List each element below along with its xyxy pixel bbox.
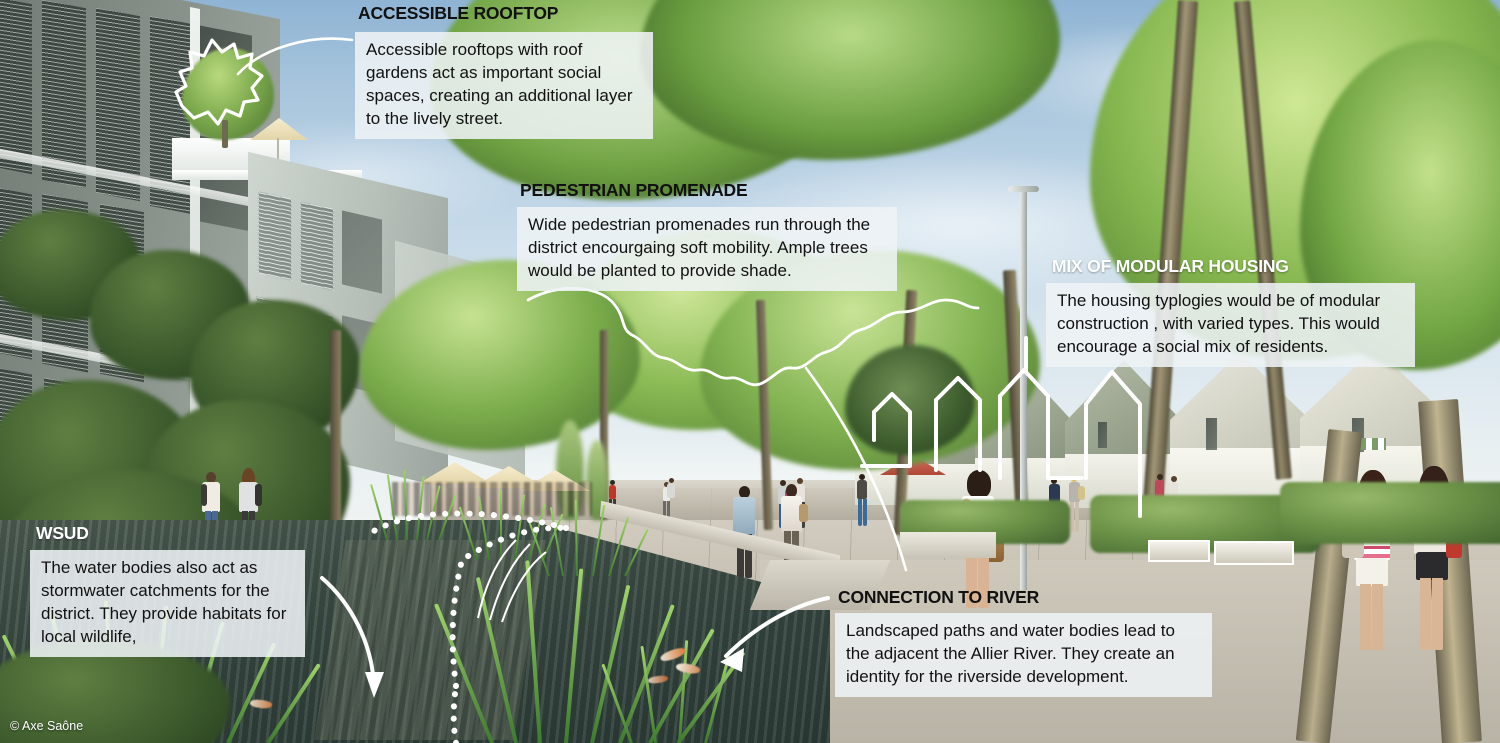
callout-text: The housing typlogies would be of modula… bbox=[1057, 290, 1404, 359]
callout-body-accessible-rooftop: Accessible rooftops with roof gardens ac… bbox=[355, 32, 653, 139]
balcony-recess bbox=[342, 210, 382, 293]
balcony-louver-panel bbox=[300, 201, 334, 291]
annotated-render-canvas: ACCESSIBLE ROOFTOP Accessible rooftops w… bbox=[0, 0, 1500, 743]
callout-body-wsud: The water bodies also act as stormwater … bbox=[30, 550, 305, 657]
concrete-planter bbox=[900, 532, 996, 558]
house-window bbox=[1098, 422, 1107, 448]
callout-heading-pedestrian-promenade: PEDESTRIAN PROMENADE bbox=[520, 182, 747, 200]
lamp-post-head bbox=[1008, 186, 1039, 192]
callout-body-connection-to-river: Landscaped paths and water bodies lead t… bbox=[835, 613, 1212, 697]
house-window bbox=[1206, 418, 1217, 450]
callout-heading-connection-to-river: CONNECTION TO RIVER bbox=[838, 589, 1039, 607]
hedge-row bbox=[1280, 482, 1500, 544]
rooftop-parasol bbox=[250, 118, 308, 140]
callout-text: The water bodies also act as stormwater … bbox=[41, 557, 294, 649]
callout-heading-accessible-rooftop: ACCESSIBLE ROOFTOP bbox=[358, 5, 558, 23]
callout-heading-wsud: WSUD bbox=[36, 525, 89, 543]
tree-trunk bbox=[330, 330, 341, 530]
reed-clump bbox=[380, 470, 470, 540]
rooftop-tree-trunk bbox=[222, 120, 228, 148]
balcony-louver-panel bbox=[258, 191, 292, 281]
pedestrian-group bbox=[854, 474, 870, 530]
concrete-bench bbox=[1214, 541, 1294, 565]
callout-text: Accessible rooftops with roof gardens ac… bbox=[366, 39, 642, 131]
callout-body-pedestrian-promenade: Wide pedestrian promenades run through t… bbox=[517, 207, 897, 291]
callout-heading-mix-of-modular-housing: MIX OF MODULAR HOUSING bbox=[1052, 258, 1289, 276]
callout-text: Landscaped paths and water bodies lead t… bbox=[846, 620, 1201, 689]
image-credit: © Axe Saône bbox=[10, 719, 83, 733]
concrete-bench bbox=[1148, 540, 1210, 562]
callout-body-mix-of-modular-housing: The housing typlogies would be of modula… bbox=[1046, 283, 1415, 367]
callout-text: Wide pedestrian promenades run through t… bbox=[528, 214, 886, 283]
